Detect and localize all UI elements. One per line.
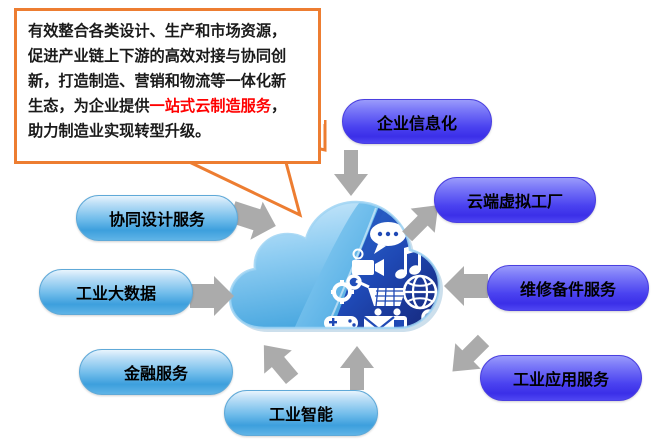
arrow-left-maintenance: [442, 266, 490, 306]
callout-line: 新，打造制造、营销和物流等一体化新: [28, 69, 310, 94]
node-industrial-big-data[interactable]: 工业大数据: [39, 269, 193, 315]
callout-line: 促进产业链上下游的高效对接与协同创: [28, 44, 310, 69]
node-cloud-virtual-factory[interactable]: 云端虚拟工厂: [434, 177, 596, 223]
download-icon: [420, 338, 444, 356]
envelope-icon: [364, 316, 394, 337]
calendar-day-label: 1: [398, 347, 406, 356]
node-label: 金融服务: [124, 360, 188, 384]
node-industrial-app-service[interactable]: 工业应用服务: [480, 355, 642, 401]
node-label: 工业智能: [269, 401, 333, 425]
node-label: 工业大数据: [76, 280, 156, 304]
arrow-up-industrial-intelligence: [338, 344, 378, 392]
node-label: 维修备件服务: [520, 276, 616, 300]
node-industrial-intelligence[interactable]: 工业智能: [224, 390, 378, 436]
arrow-upright-financial: [252, 336, 304, 388]
node-label: 云端虚拟工厂: [467, 188, 563, 212]
diagram-canvas: 有效整合各类设计、生产和市场资源，促进产业链上下游的高效对接与协同创新，打造制造…: [0, 0, 653, 442]
calendar-icon: 1: [389, 338, 415, 356]
callout-text: 有效整合各类设计、生产和市场资源，促进产业链上下游的高效对接与协同创新，打造制造…: [28, 19, 310, 144]
callout-line: 有效整合各类设计、生产和市场资源，: [28, 19, 310, 44]
callout-highlight: 一站式云制造服务: [150, 97, 272, 115]
description-callout: 有效整合各类设计、生产和市场资源，促进产业链上下游的高效对接与协同创新，打造制造…: [14, 8, 321, 164]
node-label: 工业应用服务: [513, 366, 609, 390]
node-enterprise-informatization[interactable]: 企业信息化: [342, 99, 492, 144]
callout-line: 生态，为企业提供一站式云制造服务，: [28, 94, 310, 119]
arrow-right-big-data: [188, 276, 236, 316]
node-maintenance-parts-service[interactable]: 维修备件服务: [487, 265, 649, 311]
node-financial-service[interactable]: 金融服务: [79, 349, 233, 395]
node-label: 企业信息化: [377, 110, 457, 134]
callout-line: 助力制造业实现转型升级。: [28, 119, 310, 144]
